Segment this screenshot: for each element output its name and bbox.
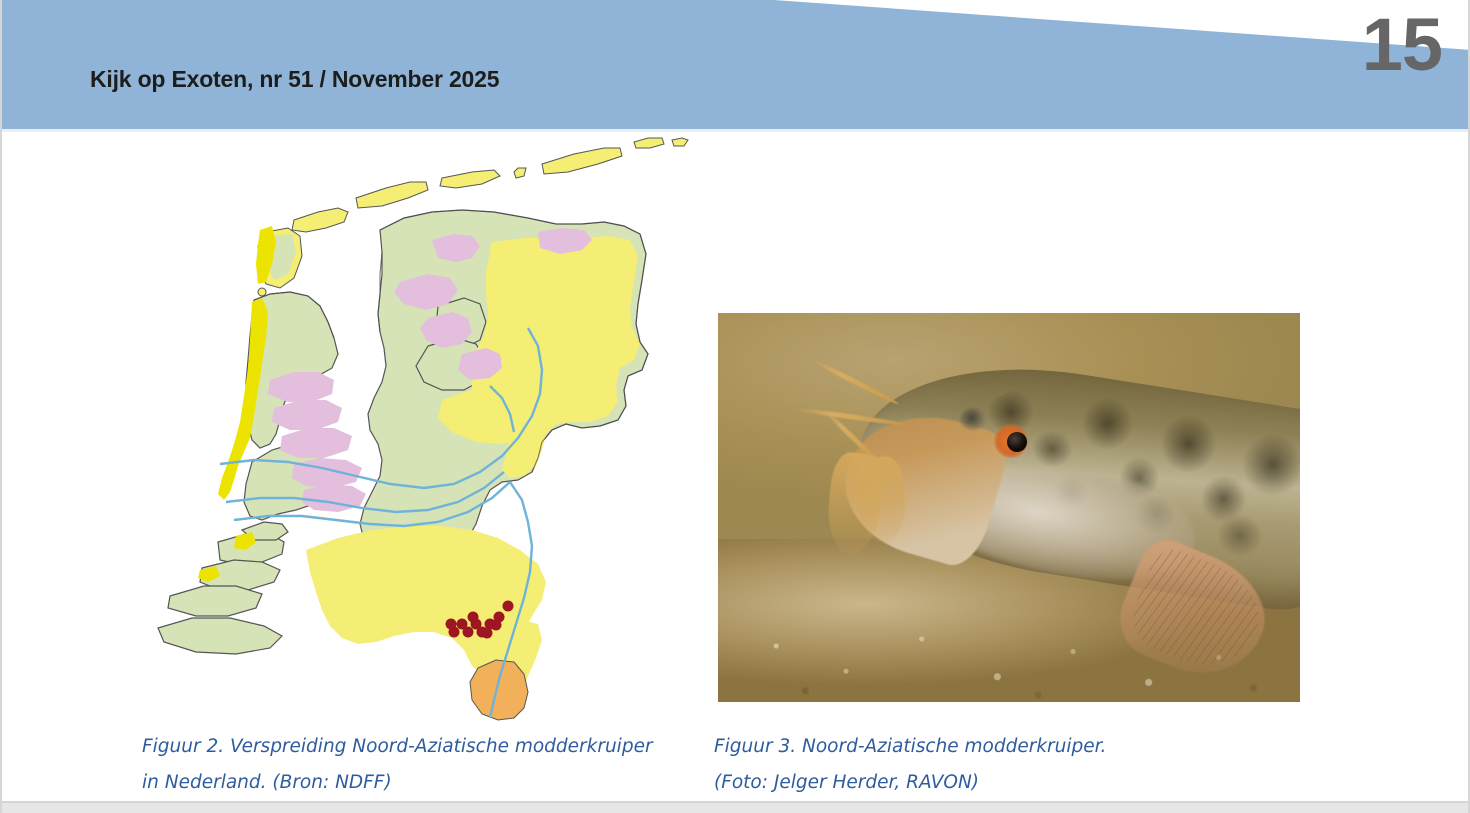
- document-page: Kijk op Exoten, nr 51 / November 2025 15: [0, 0, 1470, 813]
- occurrence-dot: [503, 601, 514, 612]
- occurrence-dot: [482, 628, 493, 639]
- occurrence-dot: [491, 620, 502, 631]
- occurrence-dot: [468, 612, 479, 623]
- figure-3-caption-line-1: Figuur 3. Noord-Aziatische modderkruiper…: [714, 729, 1234, 765]
- occurrence-dot: [446, 619, 457, 630]
- figure-2-caption-line-1: Figuur 2. Verspreiding Noord-Aziatische …: [142, 729, 712, 765]
- figure-2-caption-line-2: in Nederland. (Bron: NDFF): [142, 765, 712, 801]
- figure-2-map: [142, 132, 702, 724]
- page-number: 15: [1362, 8, 1442, 82]
- fish-nostril: [960, 408, 986, 430]
- figure-3-caption: Figuur 3. Noord-Aziatische modderkruiper…: [714, 729, 1234, 801]
- loach-photograph: [718, 313, 1300, 702]
- figure-3-caption-line-2: (Foto: Jelger Herder, RAVON): [714, 765, 1234, 801]
- page-title: Kijk op Exoten, nr 51 / November 2025: [90, 66, 499, 93]
- fish-eye: [1007, 432, 1027, 452]
- occurrence-dot: [463, 627, 474, 638]
- header-band: [2, 0, 1470, 129]
- loess-region-orange: [470, 660, 528, 720]
- page-bottom-strip: [2, 803, 1468, 813]
- figure-3-photo: [718, 313, 1300, 702]
- netherlands-distribution-map: [142, 132, 702, 724]
- figure-2-caption: Figuur 2. Verspreiding Noord-Aziatische …: [142, 729, 712, 801]
